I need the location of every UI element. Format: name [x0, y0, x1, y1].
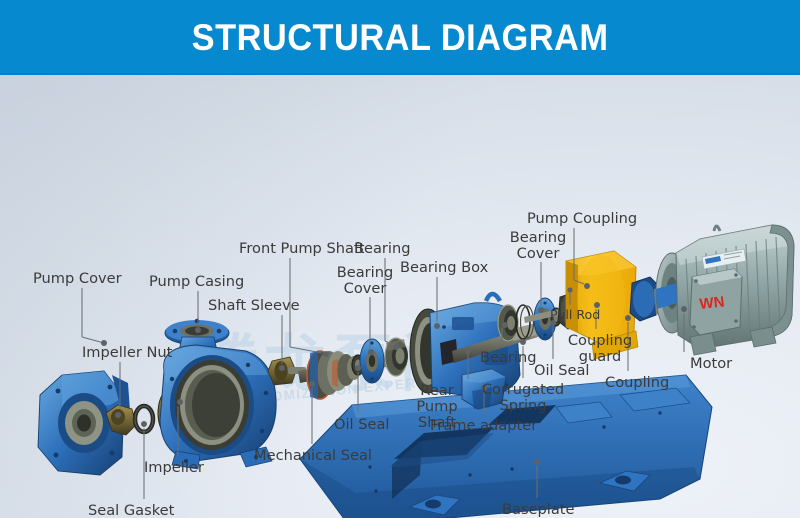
label-front-pump-shaft: Front Pump Shaft	[239, 241, 365, 257]
leader-rear-pump-shaft	[465, 348, 471, 379]
label-oil-seal-rear: Oil Seal	[534, 363, 589, 379]
leader-mechanical-seal	[309, 381, 315, 444]
page-header: STRUCTURAL DIAGRAM	[0, 0, 800, 75]
leader-bearing-2	[502, 322, 508, 346]
label-pull-rod: Pull Rod	[550, 308, 600, 322]
structural-diagram-page: STRUCTURAL DIAGRAM 腾龙泵阀 PUMPS CUSTOMIZAT…	[0, 0, 800, 518]
label-mechanical-seal: Mechanical Seal	[254, 448, 372, 464]
diagram-canvas: 腾龙泵阀 PUMPS CUSTOMIZATION EXPERT	[0, 75, 800, 518]
label-coupling: Coupling	[605, 375, 669, 391]
leader-bearing-box	[434, 277, 440, 329]
callout-leader-lines	[0, 75, 800, 518]
label-motor: Motor	[690, 356, 732, 372]
label-frame-adapter: Frame adapter	[430, 418, 537, 434]
label-seal-gasket: Seal Gasket	[88, 503, 174, 518]
leader-oil-seal-front	[355, 365, 361, 413]
leader-oil-seal-rear	[550, 320, 556, 359]
label-shaft-sleeve: Shaft Sleeve	[208, 298, 300, 314]
label-pump-casing: Pump Casing	[149, 274, 244, 290]
leader-bearing-cover-2	[538, 262, 544, 313]
label-oil-seal-front: Oil Seal	[334, 417, 389, 433]
label-bearing-cover-2: Bearing Cover	[505, 230, 571, 262]
leader-pump-cover	[82, 288, 107, 346]
leader-baseplate	[534, 459, 540, 498]
label-bearing-1: Bearing	[354, 241, 411, 257]
leader-shaft-sleeve	[279, 315, 285, 371]
label-coupling-guard: Coupling guard	[562, 333, 638, 365]
leader-pump-casing	[195, 291, 201, 333]
leader-motor	[681, 306, 687, 352]
label-bearing-2: Bearing	[480, 350, 537, 366]
page-title: STRUCTURAL DIAGRAM	[192, 17, 609, 59]
label-baseplate: Baseplate	[502, 502, 575, 518]
label-pump-cover: Pump Cover	[33, 271, 122, 287]
leader-bearing-cover-1	[368, 297, 374, 355]
label-bearing-box: Bearing Box	[400, 260, 488, 276]
leader-pull-rod	[567, 287, 572, 305]
label-impeller-nut: Impeller Nut	[82, 345, 172, 361]
label-bearing-cover-1: Bearing Cover	[332, 265, 398, 297]
leader-impeller	[177, 399, 183, 456]
leader-impeller-nut	[115, 362, 121, 418]
label-pump-coupling: Pump Coupling	[527, 211, 637, 227]
label-impeller: Impeller	[144, 460, 204, 476]
leader-pump-coupling	[574, 228, 590, 289]
label-corrugated-spring: Corrugated Spring	[479, 382, 567, 414]
